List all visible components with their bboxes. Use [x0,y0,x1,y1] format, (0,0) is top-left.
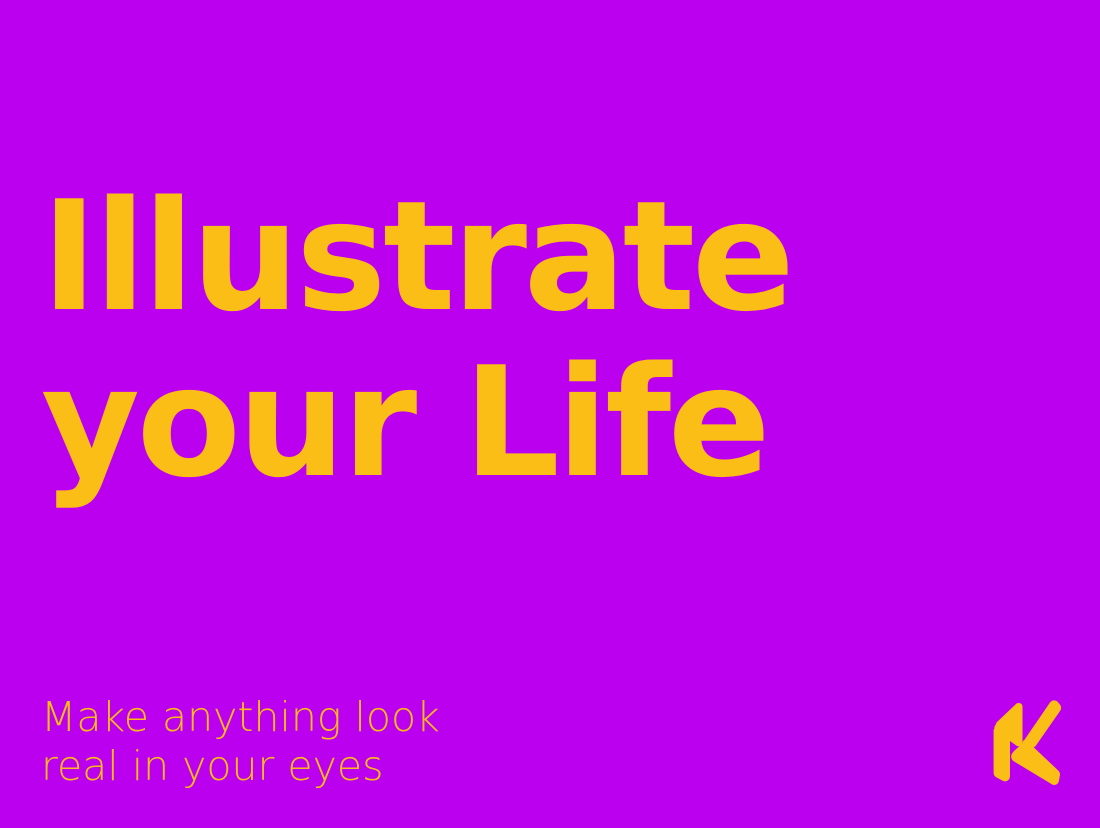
headline-line-1: Illustrate [41,174,941,340]
subtitle-line-2: real in your eyes [41,742,440,791]
headline-line-2: your Life [41,340,941,506]
poster-canvas: Illustrateyour Life Make anything lookre… [0,0,1100,828]
k-mark-logo [988,696,1062,786]
subtitle-line-1: Make anything look [41,693,440,742]
subtitle: Make anything lookreal in your eyes [41,693,440,791]
page-title: Illustrateyour Life [41,8,941,672]
